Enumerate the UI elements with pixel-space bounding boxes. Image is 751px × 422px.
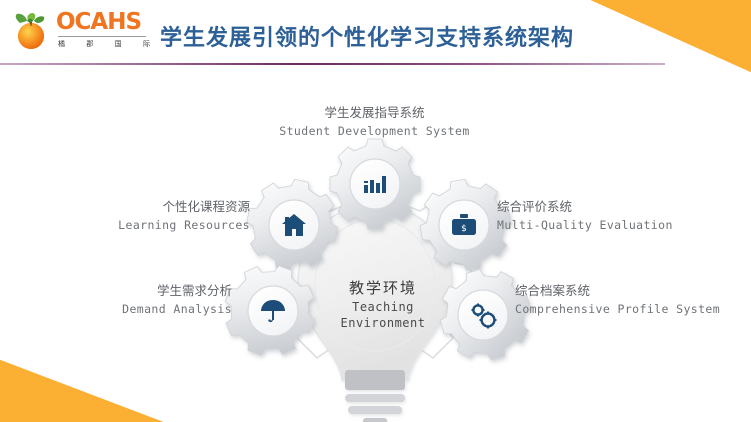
node-label-upper-right-en: Multi-Quality Evaluation bbox=[497, 217, 727, 234]
orange-fruit-logo-icon bbox=[12, 12, 54, 52]
slide-canvas: OCAHS 橘 郡 国 际 学生发展引领的个性化学习支持系统架构 bbox=[0, 0, 751, 422]
brand-name: OCAHS bbox=[56, 10, 141, 35]
node-label-multi-quality-evaluation: 综合评价系统 Multi-Quality Evaluation bbox=[497, 198, 727, 234]
node-label-upper-left-cn: 个性化课程资源 bbox=[40, 198, 250, 217]
brand-sub-char-4: 际 bbox=[143, 39, 150, 49]
node-label-top-cn: 学生发展指导系统 bbox=[262, 104, 487, 123]
brand-sub-char-1: 橘 bbox=[58, 39, 65, 49]
node-label-demand-analysis: 学生需求分析 Demand Analysis bbox=[40, 282, 232, 318]
node-label-lower-right-en: Comprehensive Profile System bbox=[515, 301, 745, 318]
svg-text:$: $ bbox=[461, 224, 467, 234]
node-label-lower-left-en: Demand Analysis bbox=[40, 301, 232, 318]
brand-subtitle: 橘 郡 国 际 bbox=[58, 39, 150, 49]
node-label-learning-resources: 个性化课程资源 Learning Resources bbox=[40, 198, 250, 234]
node-label-upper-right-cn: 综合评价系统 bbox=[497, 198, 727, 217]
brand-sub-char-3: 国 bbox=[115, 39, 122, 49]
header-divider bbox=[0, 63, 665, 65]
logo-rule bbox=[58, 36, 146, 37]
brand-logo: OCAHS 橘 郡 国 际 bbox=[12, 8, 147, 54]
node-gear-top bbox=[330, 139, 420, 229]
node-label-comprehensive-profile: 综合档案系统 Comprehensive Profile System bbox=[515, 282, 745, 318]
node-label-top-en: Student Development System bbox=[262, 123, 487, 140]
system-architecture-diagram: $ bbox=[0, 70, 751, 422]
brand-sub-char-2: 郡 bbox=[86, 39, 93, 49]
page-title: 学生发展引领的个性化学习支持系统架构 bbox=[160, 20, 590, 52]
node-label-lower-right-cn: 综合档案系统 bbox=[515, 282, 745, 301]
node-label-upper-left-en: Learning Resources bbox=[40, 217, 250, 234]
node-label-student-development: 学生发展指导系统 Student Development System bbox=[262, 104, 487, 140]
node-label-lower-left-cn: 学生需求分析 bbox=[40, 282, 232, 301]
top-right-corner-decoration bbox=[591, 0, 751, 72]
